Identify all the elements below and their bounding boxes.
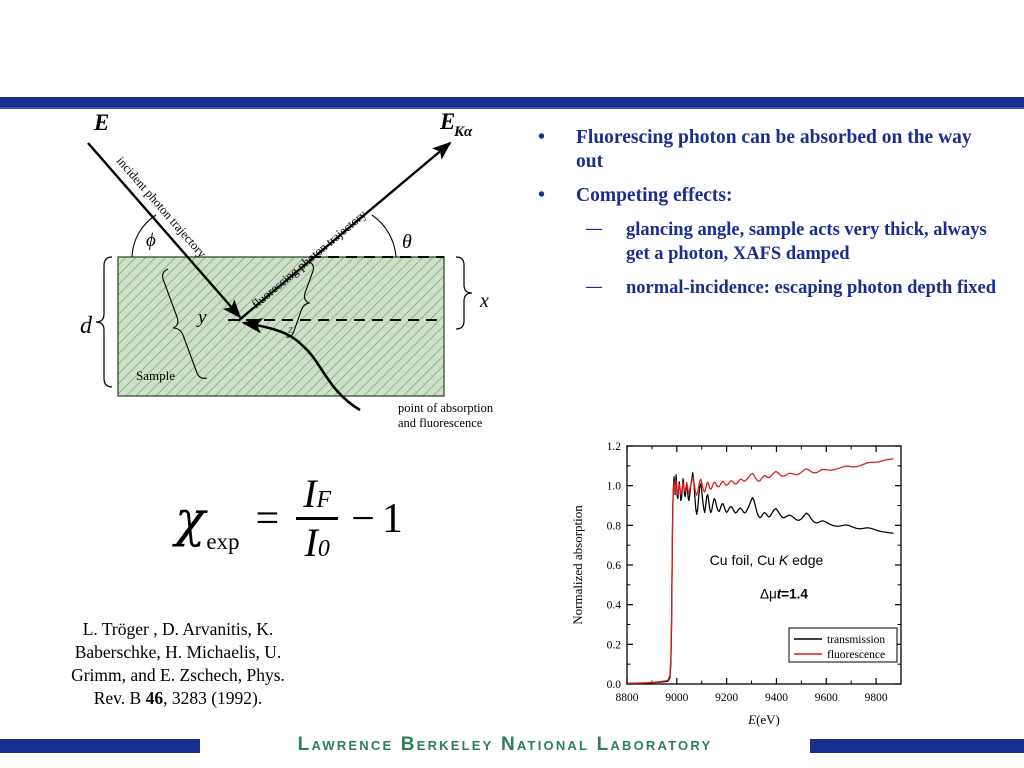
bullet-dot-icon: •	[538, 183, 545, 207]
y-tick-label: 1.2	[607, 441, 622, 453]
fluorescence-geometry-diagram: E E Kα incident photon trajectory fluore…	[60, 105, 530, 455]
citation-line-4-pre: Rev. B	[94, 688, 146, 708]
label-x: x	[479, 290, 489, 312]
y-axis-label: Normalized absorption	[570, 505, 585, 625]
sample-label: Sample	[136, 368, 175, 383]
bullet-dash-icon: —	[586, 217, 602, 241]
chi-symbol: χ	[175, 490, 205, 548]
bullet-dash-icon: —	[586, 275, 602, 299]
brace-x	[456, 257, 472, 329]
bullet-item-3: — glancing angle, sample acts very thick…	[530, 218, 1000, 266]
xafs-spectrum-chart: 8800900092009400960098000.00.20.40.60.81…	[560, 432, 910, 727]
fraction-numerator: IF	[296, 473, 338, 515]
citation-line-4-post: , 3283 (1992).	[163, 688, 262, 708]
presentation-slide: E E Kα incident photon trajectory fluore…	[0, 0, 1024, 768]
absorption-note-line2: and fluorescence	[398, 416, 483, 430]
x-tick-label: 9000	[665, 692, 688, 704]
bullet-item-2: • Competing effects:	[530, 184, 1000, 208]
svg-text:Kα: Kα	[453, 124, 473, 140]
x-tick-label: 8800	[616, 692, 639, 704]
chart-legend: transmissionfluorescence	[789, 628, 897, 662]
bullet-item-3-text: glancing angle, sample acts very thick, …	[626, 220, 987, 264]
chi-subscript: exp	[206, 529, 239, 564]
reference-citation: L. Tröger , D. Arvanitis, K. Baberschke,…	[28, 618, 328, 710]
angle-theta-label: θ	[402, 231, 412, 253]
incident-trajectory-label: incident photon trajectory	[114, 154, 210, 261]
bullet-item-1: • Fluorescing photon can be absorbed on …	[530, 126, 1000, 174]
x-axis-label: E(eV)	[747, 712, 780, 727]
citation-line-1: L. Tröger , D. Arvanitis, K.	[83, 619, 274, 639]
fraction-denominator: I0	[298, 522, 337, 564]
annotation-mut: Δμt=1.4	[760, 587, 808, 602]
label-y: y	[196, 307, 207, 328]
organization-footer: Lawrence Berkeley National Laboratory	[200, 734, 810, 756]
legend-label-fluorescence: fluorescence	[827, 649, 885, 661]
y-tick-label: 0.2	[607, 639, 622, 651]
y-tick-label: 0.6	[607, 560, 622, 572]
x-tick-label: 9600	[815, 692, 838, 704]
svg-text:E: E	[439, 109, 455, 134]
bottom-accent-bar-left	[0, 739, 200, 753]
bullet-dot-icon: •	[538, 125, 545, 149]
one-literal: 1	[382, 495, 403, 543]
equals-sign: =	[256, 495, 280, 543]
minus-sign: −	[351, 495, 375, 543]
x-tick-label: 9800	[865, 692, 888, 704]
legend-label-transmission: transmission	[827, 634, 885, 646]
citation-volume: 46	[146, 688, 164, 708]
fluorescing-energy-label: E Kα	[439, 109, 473, 140]
bullet-item-1-text: Fluorescing photon can be absorbed on th…	[576, 127, 972, 172]
incident-energy-label: E	[93, 110, 109, 135]
label-d: d	[80, 313, 93, 339]
bullet-item-2-text: Competing effects:	[576, 185, 733, 206]
angle-theta-arc	[372, 215, 396, 257]
bullet-item-4-text: normal-incidence: escaping photon depth …	[626, 278, 996, 298]
absorption-note-line1: point of absorption	[398, 401, 494, 415]
bottom-accent-bar-right	[810, 739, 1024, 753]
bullet-list: • Fluorescing photon can be absorbed on …	[530, 126, 1000, 310]
brace-d	[96, 257, 112, 387]
y-tick-label: 1.0	[607, 481, 622, 493]
intensity-fraction: IF I0	[296, 473, 338, 564]
y-tick-label: 0.4	[607, 600, 622, 612]
bullet-item-4: — normal-incidence: escaping photon dept…	[530, 276, 1000, 300]
x-tick-label: 9200	[715, 692, 738, 704]
citation-line-2: Baberschke, H. Michaelis, U.	[75, 642, 282, 662]
chi-experimental-equation: χexp = IF I0 − 1	[175, 473, 403, 564]
y-tick-label: 0.8	[607, 520, 622, 532]
label-z: z	[287, 321, 293, 336]
citation-line-3: Grimm, and E. Zschech, Phys.	[71, 665, 285, 685]
annotation-sample: Cu foil, Cu K edge	[710, 552, 824, 568]
x-tick-label: 9400	[765, 692, 788, 704]
angle-phi-label: ϕ	[146, 230, 156, 251]
y-tick-label: 0.0	[607, 679, 622, 691]
